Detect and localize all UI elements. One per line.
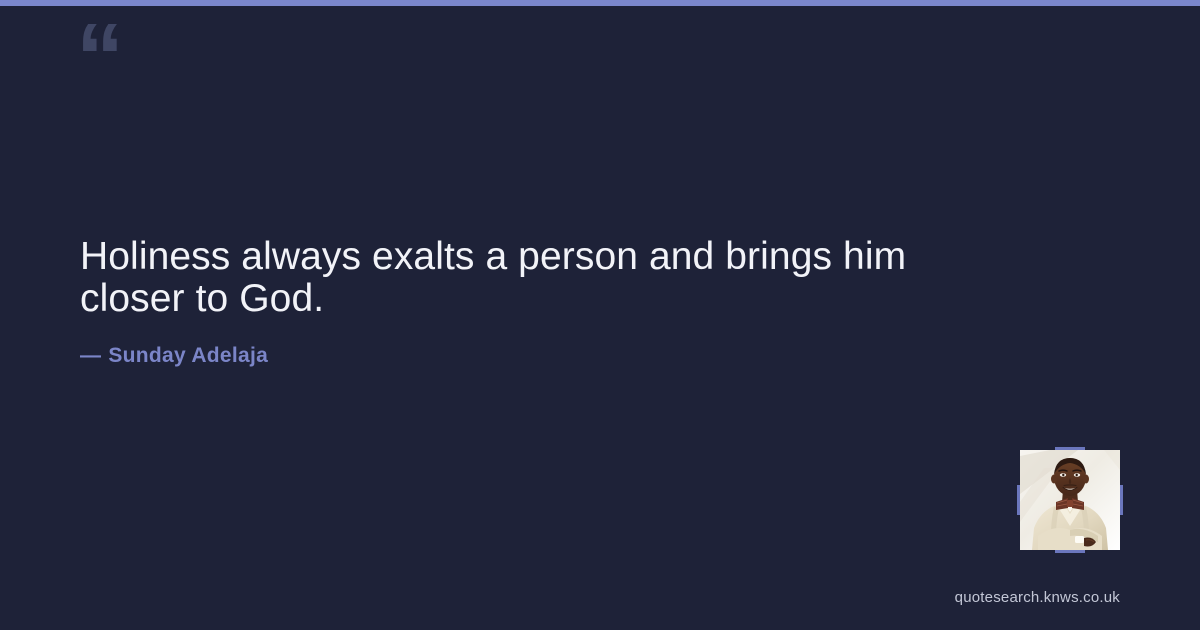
quote-text-line-2: closer to God.	[80, 278, 980, 320]
frame-tick-bottom-icon	[1055, 550, 1085, 553]
frame-tick-right-icon	[1120, 485, 1123, 515]
quote-text-line-1: Holiness always exalts a person and brin…	[80, 236, 980, 278]
author-thumbnail	[1020, 450, 1120, 550]
attribution-author-name: Sunday Adelaja	[108, 344, 268, 367]
author-photo	[1020, 450, 1120, 550]
open-quote-icon: “	[76, 10, 122, 106]
quote-block: Holiness always exalts a person and brin…	[80, 236, 980, 320]
attribution-dash: —	[80, 344, 101, 367]
quote-attribution: —Sunday Adelaja	[80, 344, 268, 368]
top-accent-bar	[0, 0, 1200, 6]
watermark-url: quotesearch.knws.co.uk	[955, 589, 1120, 606]
quote-card: “ Holiness always exalts a person and br…	[0, 0, 1200, 630]
